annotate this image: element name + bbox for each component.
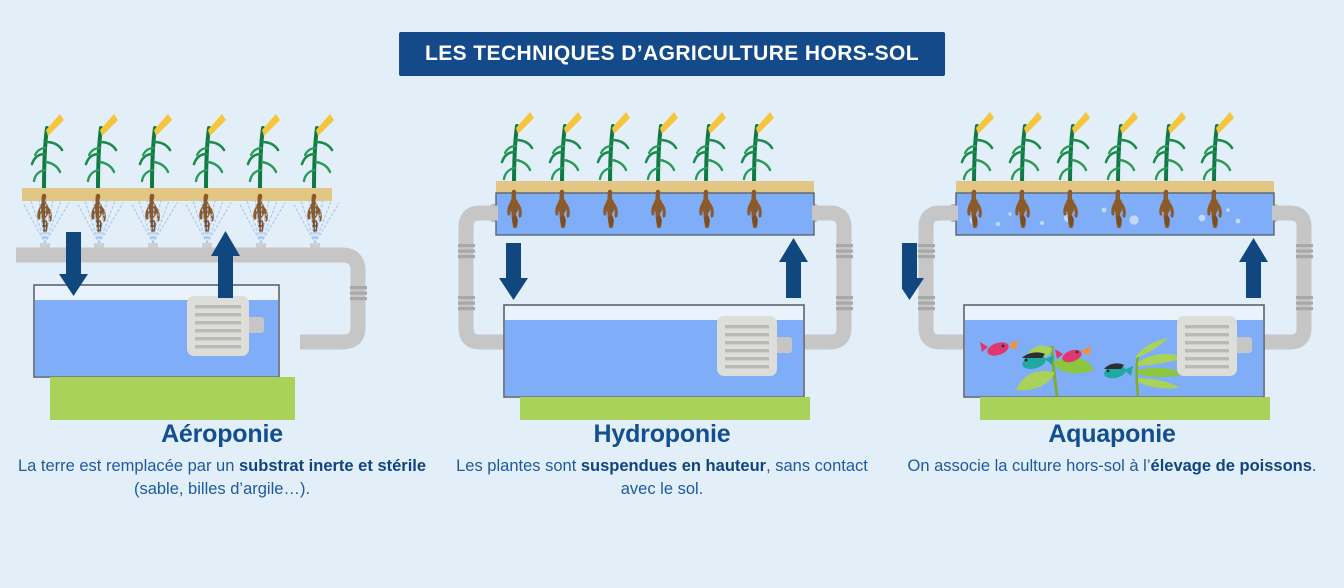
infographic-canvas: LES TECHNIQUES D’AGRICULTURE HORS-SOL [0,0,1344,588]
technique-title: Hydroponie [452,420,872,449]
caption-hydroponie: Hydroponie Les plantes sont suspendues e… [452,420,872,502]
substrate-board [22,188,332,201]
technique-title: Aéroponie [12,420,432,449]
hydroponics-svg [452,100,872,420]
column-aquaponie: Aquaponie On associe la culture hors-sol… [902,100,1322,580]
page-title-banner: LES TECHNIQUES D’AGRICULTURE HORS-SOL [399,32,945,76]
pipe-joint [350,286,367,300]
grow-tray [496,193,814,235]
pipe-joint-left-lower [918,296,935,310]
page-title: LES TECHNIQUES D’AGRICULTURE HORS-SOL [425,43,919,64]
grow-tray [956,193,1274,235]
pipe-joint-right-lower [836,296,853,310]
pipe-joint-left-lower [458,296,475,310]
technique-title: Aquaponie [902,420,1322,449]
aeroponics-diagram [12,100,432,420]
technique-description: Les plantes sont suspendues en hauteur, … [452,455,872,502]
hydroponics-diagram [452,100,872,420]
flow-arrow-up [1239,238,1268,298]
substrate-board [496,181,814,193]
caption-aquaponie: Aquaponie On associe la culture hors-sol… [902,420,1322,478]
column-aeroponie: Aéroponie La terre est remplacée par un … [12,100,432,580]
pipe-joint-right-upper [836,244,853,258]
root-row [39,196,321,231]
caption-aeroponie: Aéroponie La terre est remplacée par un … [12,420,432,502]
aeroponics-svg [12,100,432,420]
pipe-joint-left-upper [918,244,935,258]
ground-base [520,397,810,420]
ground-base [980,397,1270,420]
flow-arrow-up [779,238,808,298]
flow-arrow-down [499,243,528,300]
plant-row [32,114,334,190]
plant-row [502,112,774,188]
pipe-joint-right-lower [1296,296,1313,310]
plant-row [962,112,1234,188]
technique-description: On associe la culture hors-sol à l’éleva… [902,455,1322,478]
column-hydroponie: Hydroponie Les plantes sont suspendues e… [452,100,872,580]
pipe-joint-left-upper [458,244,475,258]
pipe-joint-right-upper [1296,244,1313,258]
ground-base [50,377,295,420]
aquaponics-svg [902,100,1322,420]
substrate-board [956,181,1274,193]
aquaponics-diagram [902,100,1322,420]
technique-description: La terre est remplacée par un substrat i… [12,455,432,502]
